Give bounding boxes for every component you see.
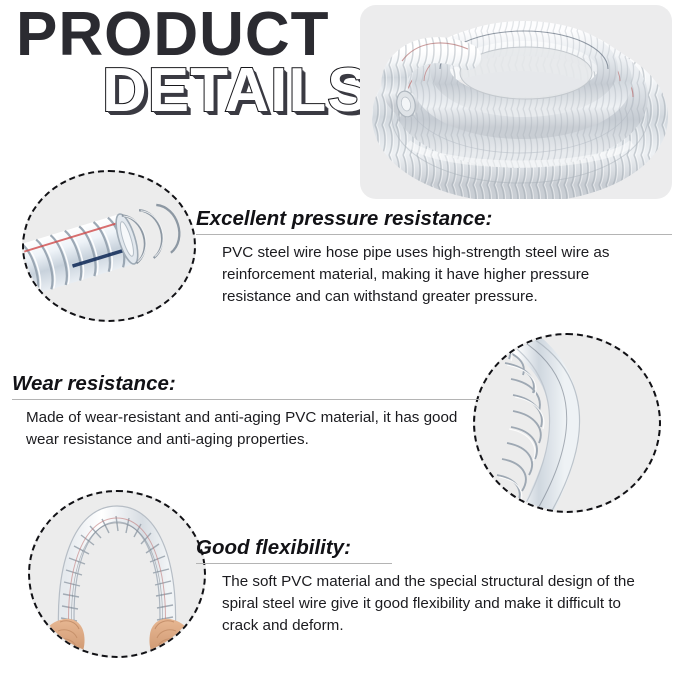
feature-wear-resistance: Wear resistance: Made of wear-resistant …: [12, 373, 482, 451]
feature-heading: Good flexibility:: [196, 537, 674, 560]
feature-good-flexibility: Good flexibility: The soft PVC material …: [196, 537, 674, 637]
feature-body: Made of wear-resistant and anti-aging PV…: [12, 407, 464, 451]
coiled-hose-illustration: [360, 5, 672, 199]
inset-pressure-resistance: [22, 170, 196, 322]
hero-product-image: [360, 5, 672, 199]
right-hand: [149, 619, 194, 656]
feature-divider: [196, 234, 672, 235]
feature-heading: Wear resistance:: [12, 373, 482, 396]
left-hand: [40, 619, 85, 656]
product-details-infographic: PRODUCT DETAILS: [0, 0, 679, 674]
hands-bending-hose-illustration: [30, 492, 204, 656]
feature-body: The soft PVC material and the special st…: [196, 571, 648, 637]
inset-good-flexibility: [28, 490, 206, 658]
feature-divider: [196, 563, 392, 564]
hose-end-spiral-illustration: [24, 172, 194, 320]
curved-hose-illustration: [475, 335, 659, 511]
title-line-details: DETAILS: [102, 60, 370, 122]
page-title: PRODUCT DETAILS: [16, 4, 356, 140]
inset-wear-resistance: [473, 333, 661, 513]
feature-heading: Excellent pressure resistance:: [196, 208, 674, 231]
feature-body: PVC steel wire hose pipe uses high-stren…: [196, 242, 646, 308]
feature-divider: [12, 399, 480, 400]
feature-pressure-resistance: Excellent pressure resistance: PVC steel…: [196, 208, 674, 308]
